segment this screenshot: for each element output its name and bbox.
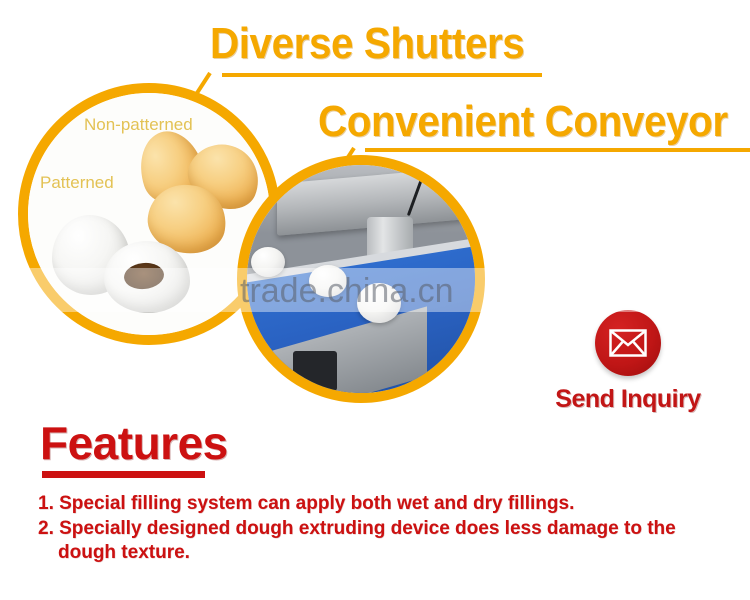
watermark-text: trade.china.cn — [240, 272, 454, 311]
label-patterned: Patterned — [40, 173, 114, 193]
features-list: 1. Special filling system can apply both… — [38, 492, 718, 566]
connector-bar-shutters — [222, 73, 542, 77]
heading-diverse-shutters: Diverse Shutters — [210, 22, 524, 66]
features-title: Features — [40, 420, 228, 466]
heading-convenient-conveyor: Convenient Conveyor — [318, 100, 728, 144]
label-non-patterned: Non-patterned — [84, 115, 193, 135]
send-inquiry-button[interactable]: Send Inquiry — [548, 310, 708, 414]
features-title-underline — [42, 471, 205, 478]
feature-item: 1. Special filling system can apply both… — [38, 492, 718, 516]
product-feature-banner: Diverse Shutters Convenient Conveyor Non… — [0, 0, 750, 600]
machine-dark-component — [293, 351, 337, 391]
feature-item: 2. Specially designed dough extruding de… — [38, 517, 718, 565]
send-inquiry-label: Send Inquiry — [548, 385, 708, 414]
inquiry-icon-circle[interactable] — [595, 310, 661, 376]
connector-bar-conveyor — [365, 148, 750, 152]
envelope-icon — [609, 329, 647, 357]
